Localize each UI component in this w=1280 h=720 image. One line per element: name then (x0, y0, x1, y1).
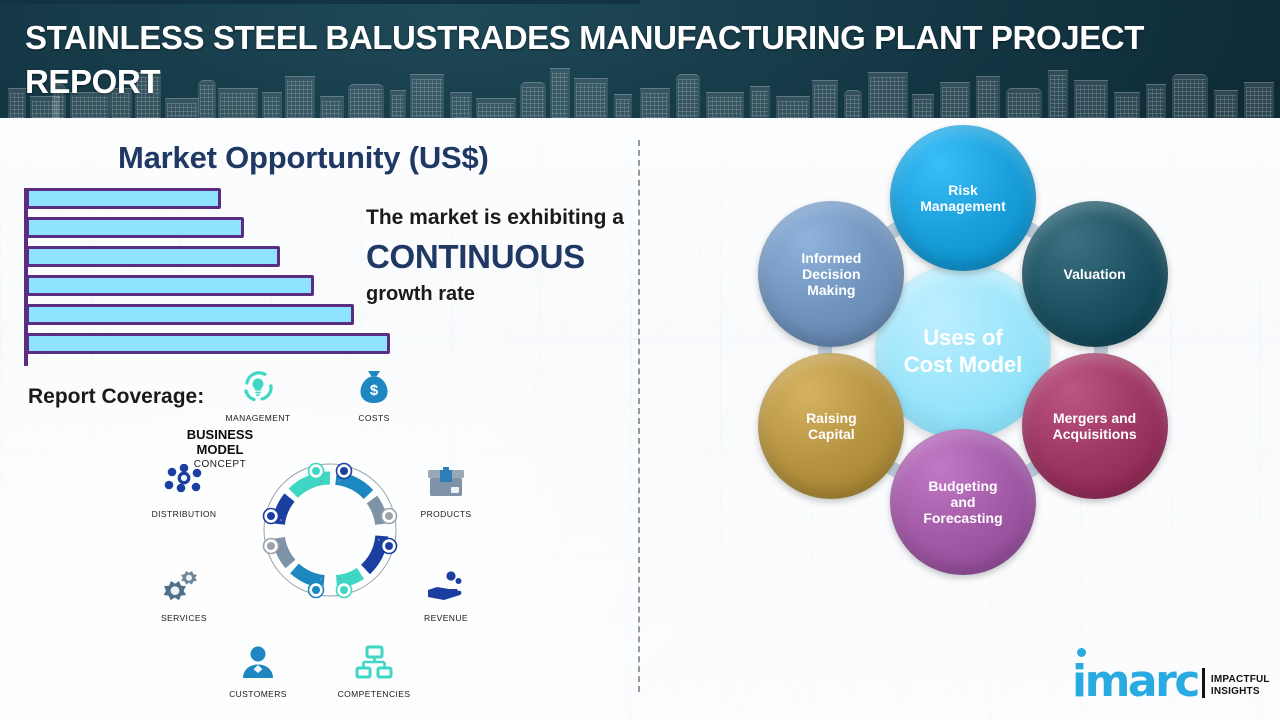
vertical-dashed-divider (638, 140, 640, 692)
coverage-item-competencies: COMPETENCIES (326, 640, 422, 699)
market-statement-emphasis: CONTINUOUS (366, 238, 585, 276)
hand-coins-icon (398, 564, 494, 610)
chart-bar (26, 333, 390, 354)
svg-text:$: $ (370, 382, 379, 399)
coverage-item-label: DISTRIBUTION (136, 509, 232, 519)
cost-node-informed-decision-making: InformedDecisionMaking (758, 201, 904, 347)
business-model-wheel-icon (250, 450, 410, 610)
coverage-item-costs: $ COSTS (326, 364, 422, 423)
coverage-item-label: REVENUE (398, 613, 494, 623)
coverage-item-label: COMPETENCIES (326, 689, 422, 699)
coverage-item-products: PRODUCTS (398, 460, 494, 519)
cost-node-raising-capital: RaisingCapital (758, 353, 904, 499)
user-person-icon (210, 640, 306, 686)
coverage-item-label: COSTS (326, 413, 422, 423)
chart-bar (26, 304, 354, 325)
cost-node-label: InformedDecisionMaking (801, 250, 861, 298)
uses-of-cost-model-diagram: Uses of Cost Model RiskManagementValuati… (690, 135, 1250, 695)
chart-bar (26, 188, 221, 209)
wheel-line-1: BUSINESS (187, 427, 253, 442)
coverage-item-services: SERVICES (136, 564, 232, 623)
cost-node-budgeting-and-forecasting: BudgetingandForecasting (890, 429, 1036, 575)
coverage-item-distribution: DISTRIBUTION (136, 460, 232, 519)
gears-icon (136, 564, 232, 610)
wheel-line-2: MODEL (197, 442, 244, 457)
page-title: STAINLESS STEEL BALUSTRADES MANUFACTURIN… (25, 16, 1255, 104)
header-top-accent-bar (0, 0, 640, 4)
cost-node-risk-management: RiskManagement (890, 125, 1036, 271)
slide-root: STAINLESS STEEL BALUSTRADES MANUFACTURIN… (0, 0, 1280, 720)
cost-node-mergers-and-acquisitions: Mergers andAcquisitions (1022, 353, 1168, 499)
market-statement-line1: The market is exhibiting a (366, 206, 624, 230)
money-bag-icon: $ (326, 364, 422, 410)
chart-bar (26, 246, 280, 267)
logo-divider-bar (1202, 668, 1205, 698)
coverage-item-label: SERVICES (136, 613, 232, 623)
cost-node-label: RiskManagement (920, 182, 1006, 214)
center-node-line1: Uses of (904, 324, 1023, 352)
coverage-item-customers: CUSTOMERS (210, 640, 306, 699)
logo-dot-icon (1077, 648, 1086, 657)
box-package-icon (398, 460, 494, 506)
coverage-item-management: MANAGEMENT (210, 364, 306, 423)
cost-node-label: Valuation (1064, 266, 1126, 282)
market-statement-line3: growth rate (366, 283, 475, 306)
cost-node-label: Mergers andAcquisitions (1053, 410, 1137, 442)
center-node-line2: Cost Model (904, 351, 1023, 379)
network-nodes-icon (136, 460, 232, 506)
coverage-item-label: MANAGEMENT (210, 413, 306, 423)
coverage-item-label: PRODUCTS (398, 509, 494, 519)
chart-bar (26, 275, 314, 296)
logo-tagline-line2: INSIGHTS (1211, 686, 1270, 698)
coverage-item-label: CUSTOMERS (210, 689, 306, 699)
market-opportunity-title: Market Opportunity (US$) (118, 140, 489, 176)
header-banner: STAINLESS STEEL BALUSTRADES MANUFACTURIN… (0, 0, 1280, 118)
market-opportunity-bar-chart (24, 188, 424, 366)
org-chart-icon (326, 640, 422, 686)
chart-bar (26, 217, 244, 238)
imarc-logo: imarc IMPACTFUL INSIGHTS (1072, 662, 1270, 702)
coverage-item-revenue: REVENUE (398, 564, 494, 623)
report-coverage-diagram: BUSINESS MODEL CONCEPT MANAGEME (140, 368, 480, 698)
cost-node-valuation: Valuation (1022, 201, 1168, 347)
cost-node-label: BudgetingandForecasting (923, 478, 1002, 526)
cost-node-label: RaisingCapital (806, 410, 857, 442)
lifecycle-bulb-icon (210, 364, 306, 410)
logo-wordmark: imarc (1072, 662, 1198, 702)
logo-tagline: IMPACTFUL INSIGHTS (1211, 674, 1270, 698)
logo-tagline-line1: IMPACTFUL (1211, 674, 1270, 686)
